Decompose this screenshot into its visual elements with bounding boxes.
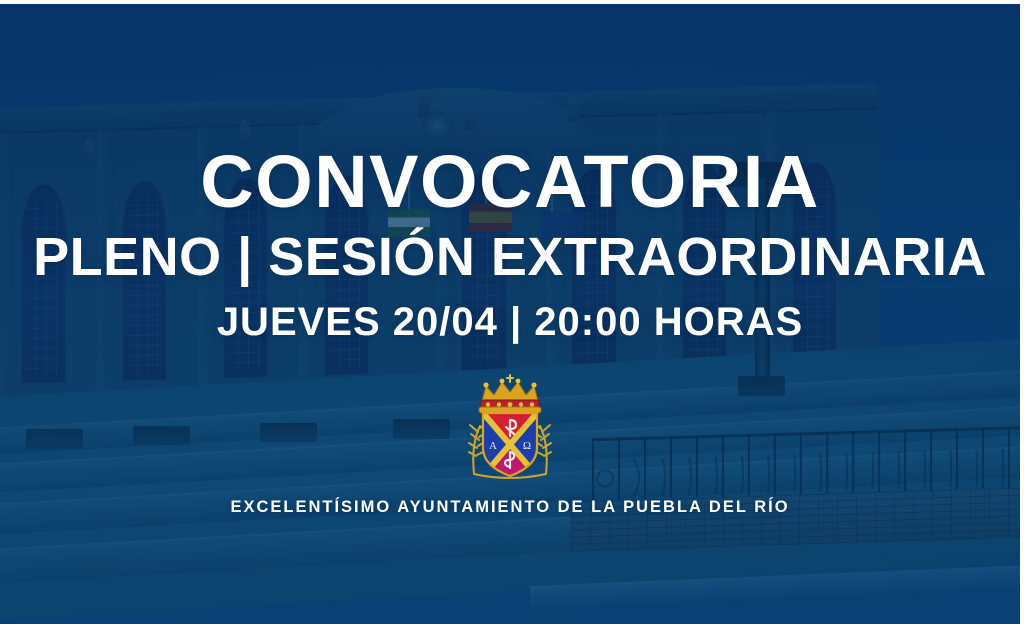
svg-text:Ω: Ω xyxy=(523,440,531,452)
page-title: CONVOCATORIA xyxy=(0,145,1020,219)
poster-content: CONVOCATORIA PLENO | SESIÓN EXTRAORDINAR… xyxy=(0,4,1020,624)
poster-datetime: JUEVES 20/04 | 20:00 HORAS xyxy=(0,302,1020,342)
convocatoria-poster: CONVOCATORIA PLENO | SESIÓN EXTRAORDINAR… xyxy=(0,0,1024,624)
svg-text:A: A xyxy=(489,440,497,452)
poster-subtitle: PLENO | SESIÓN EXTRAORDINARIA xyxy=(0,230,1020,284)
coat-of-arms-icon: A Ω xyxy=(452,370,568,486)
footer-institution-name: EXCELENTÍSIMO AYUNTAMIENTO DE LA PUEBLA … xyxy=(0,498,1020,517)
